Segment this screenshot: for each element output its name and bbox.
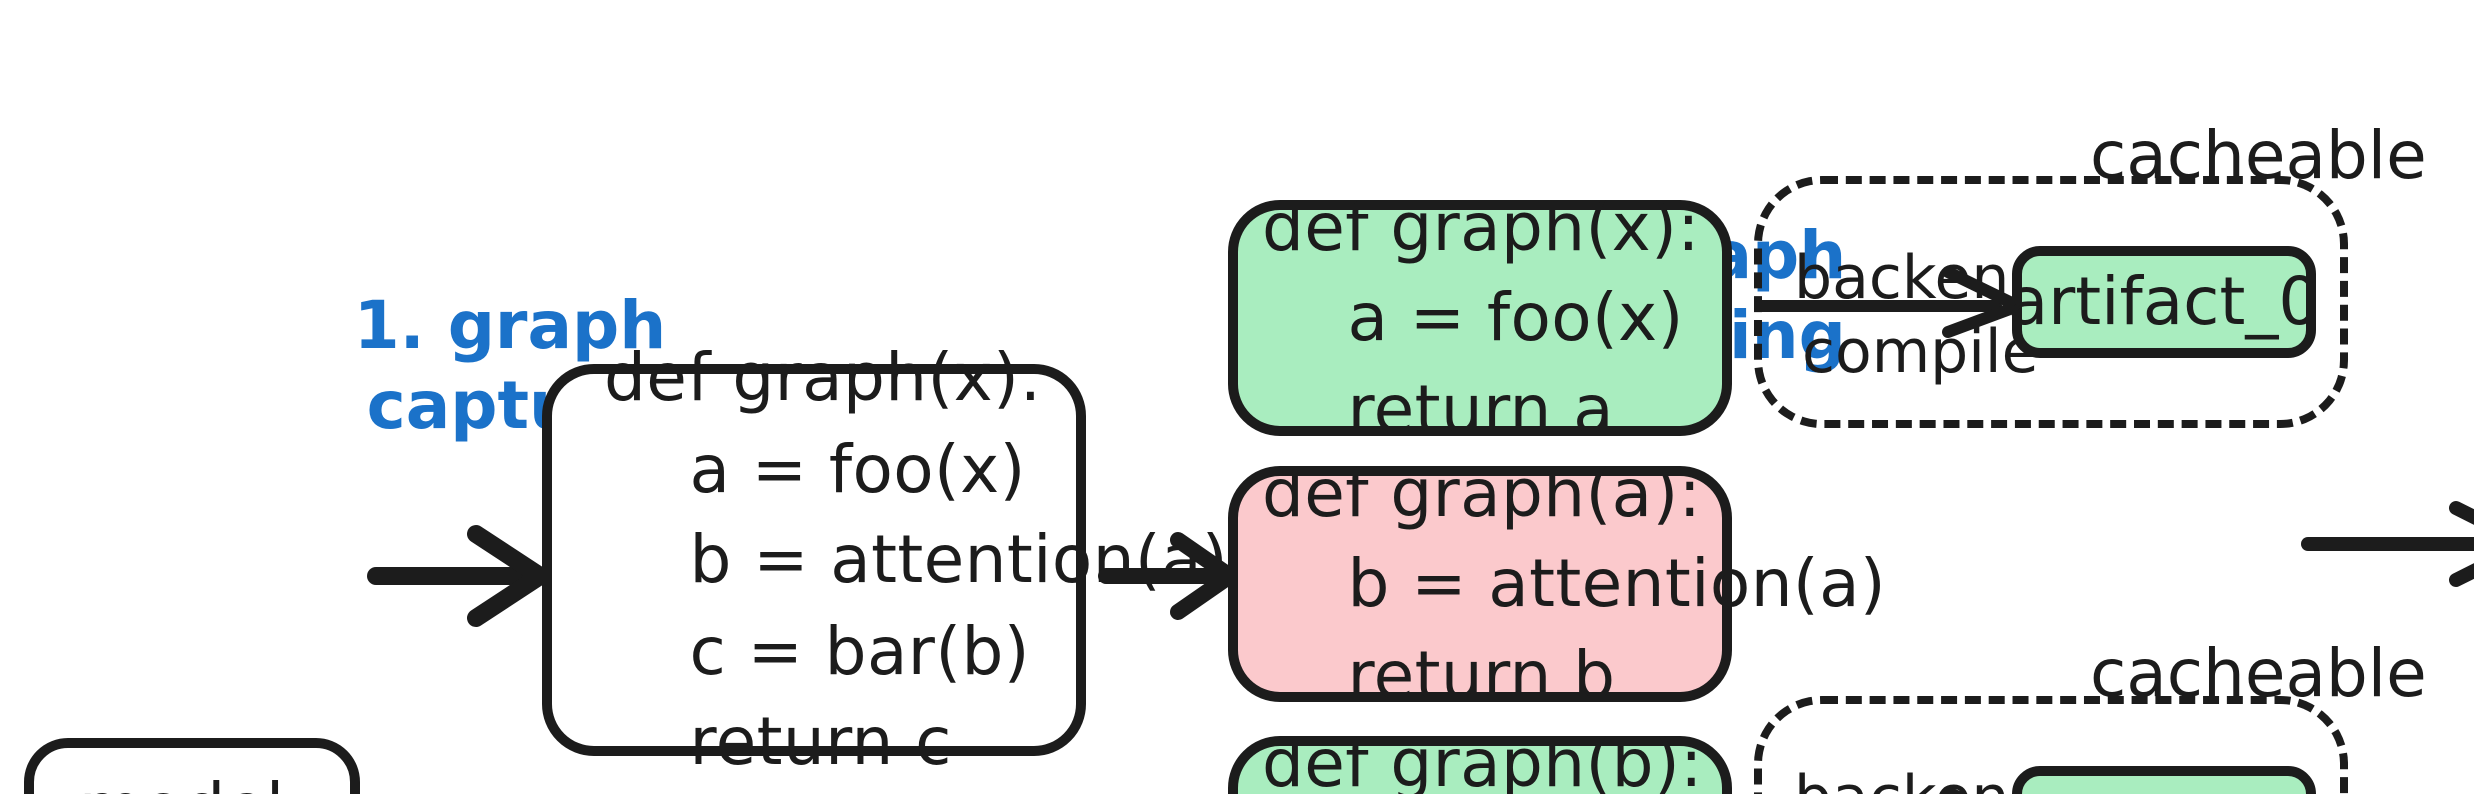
artifact-0-box: artifact_0	[2012, 246, 2316, 358]
subgraph-0-line-0: def graph(x):	[1262, 181, 1722, 272]
subgraph-2-line-0: def graph(b):	[1262, 717, 1722, 794]
subgraph-0-line-2: return a	[1262, 364, 1722, 455]
subgraph-1-line-0: def graph(a):	[1262, 447, 1722, 538]
captured-graph-line-2: b = attention(a)	[604, 514, 1076, 605]
captured-graph-line-4: return c	[604, 697, 1076, 788]
subgraph-1-line-2: return b	[1262, 630, 1722, 721]
artifact-1-label: artifact_1	[2008, 774, 2321, 794]
step-label-inductor-compile: 3. Inductor compile and custom passes	[2446, 12, 2474, 173]
input-box: model, example inputs	[24, 738, 360, 794]
arrow-to-runtime-wrapper	[2304, 496, 2474, 592]
arrow-backend-compile-0	[1756, 260, 2026, 336]
captured-graph-line-3: c = bar(b)	[604, 606, 1076, 697]
captured-graph-line-0: def graph(x):	[604, 332, 1076, 423]
subgraph-0-line-1: a = foo(x)	[1262, 272, 1722, 363]
subgraph-1-line-1: b = attention(a)	[1262, 538, 1722, 629]
diagram-canvas: 1. graph capture 2. graph splitting 3. I…	[0, 0, 2474, 794]
captured-graph-box: def graph(x): a = foo(x) b = attention(a…	[542, 364, 1086, 756]
artifact-1-box: artifact_1	[2012, 766, 2316, 794]
arrow-backend-compile-1	[1756, 780, 2026, 794]
subgraph-2-box: def graph(b): c = bar(b) return c	[1228, 736, 1732, 794]
input-line-model: model,	[34, 760, 350, 794]
artifact-0-label: artifact_0	[2008, 254, 2321, 350]
arrow-input-to-graph	[372, 516, 552, 636]
subgraph-0-box: def graph(x): a = foo(x) return a	[1228, 200, 1732, 436]
captured-graph-line-1: a = foo(x)	[604, 423, 1076, 514]
subgraph-1-box: def graph(a): b = attention(a) return b	[1228, 466, 1732, 702]
arrow-graph-to-split	[1102, 524, 1238, 628]
